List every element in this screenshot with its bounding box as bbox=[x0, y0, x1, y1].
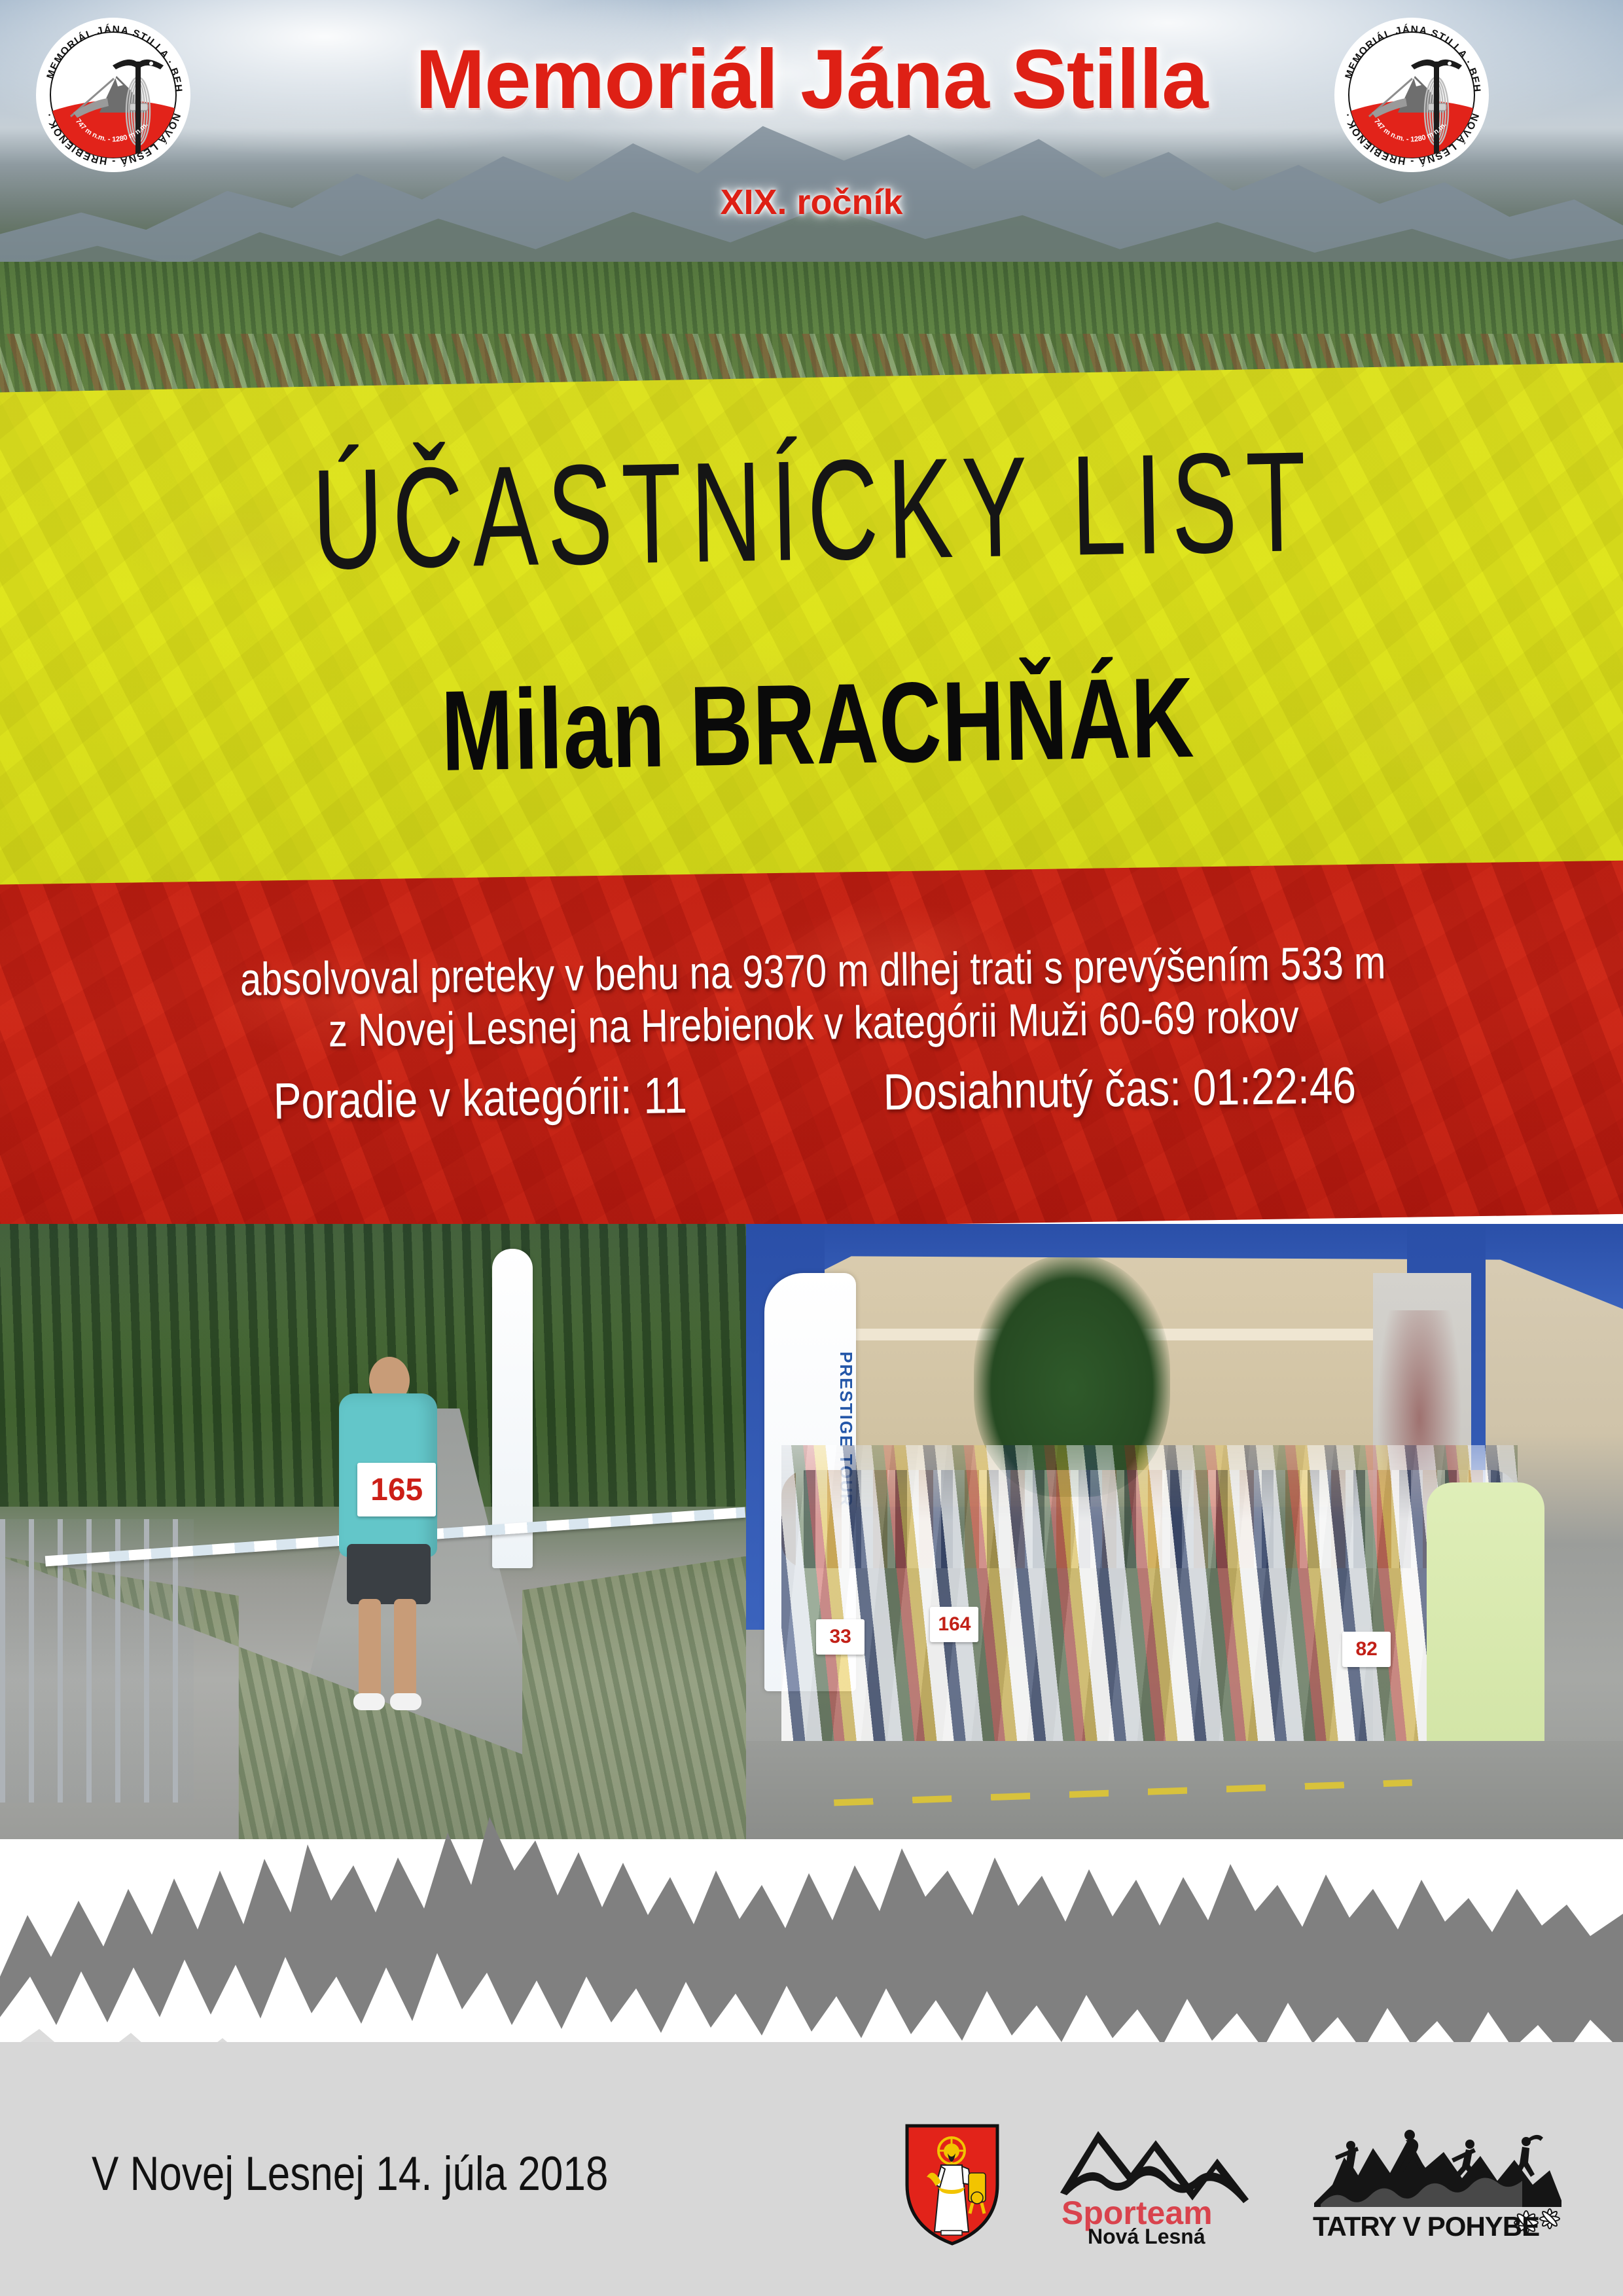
mass-start-photo: PRESTIGE TOUR 33 164 82 bbox=[746, 1224, 1623, 1839]
runner-shoe-right bbox=[390, 1693, 421, 1710]
sponsor-logo-row: Sporteam Nová Lesná bbox=[903, 2122, 1565, 2246]
event-edition: XIX. ročník bbox=[0, 182, 1623, 223]
yellow-banner: ÚČASTNÍCKY LIST Milan BRACHŇÁK bbox=[0, 362, 1623, 909]
start-bib-number: 33 bbox=[816, 1619, 865, 1655]
finish-line-photo: 165 bbox=[0, 1224, 746, 1839]
sporteam-subtitle: Nová Lesná bbox=[1088, 2225, 1205, 2246]
runner-bib-number: 165 bbox=[357, 1463, 436, 1516]
photo-strip: 165 PRESTIGE TOUR 33 164 82 bbox=[0, 1224, 1623, 1839]
sporteam-nova-lesna-logo: Sporteam Nová Lesná bbox=[1058, 2122, 1254, 2246]
feather-flag bbox=[492, 1249, 533, 1569]
category-rank: Poradie v kategórii: 11 bbox=[273, 1066, 687, 1131]
start-photo-runner-pack bbox=[781, 1445, 1518, 1789]
footer: V Novej Lesnej 14. júla 2018 bbox=[0, 2042, 1623, 2296]
tatry-v-pohybe-logo: TATRY V POHYBE bbox=[1310, 2122, 1565, 2246]
finishing-runner: 165 bbox=[321, 1335, 458, 1701]
coat-of-arms-nova-lesna-logo bbox=[903, 2122, 1001, 2246]
runner-leg-right bbox=[394, 1599, 416, 1697]
tatry-v-pohybe-wordmark: TATRY V POHYBE bbox=[1313, 2211, 1539, 2242]
issue-place-date: V Novej Lesnej 14. júla 2018 bbox=[92, 2147, 608, 2202]
start-bib-number: 82 bbox=[1342, 1632, 1391, 1667]
red-banner: absolvoval preteky v behu na 9370 m dlhe… bbox=[0, 860, 1623, 1238]
runner-leg-left bbox=[359, 1599, 381, 1697]
finish-time: Dosiahnutý čas: 01:22:46 bbox=[883, 1056, 1357, 1122]
certificate-heading: ÚČASTNÍCKY LIST bbox=[0, 413, 1623, 607]
start-bib-number: 164 bbox=[930, 1607, 978, 1642]
runner-shorts bbox=[347, 1544, 431, 1604]
event-title: Memoriál Jána Stilla bbox=[0, 31, 1623, 128]
runner-shoe-left bbox=[353, 1693, 385, 1710]
